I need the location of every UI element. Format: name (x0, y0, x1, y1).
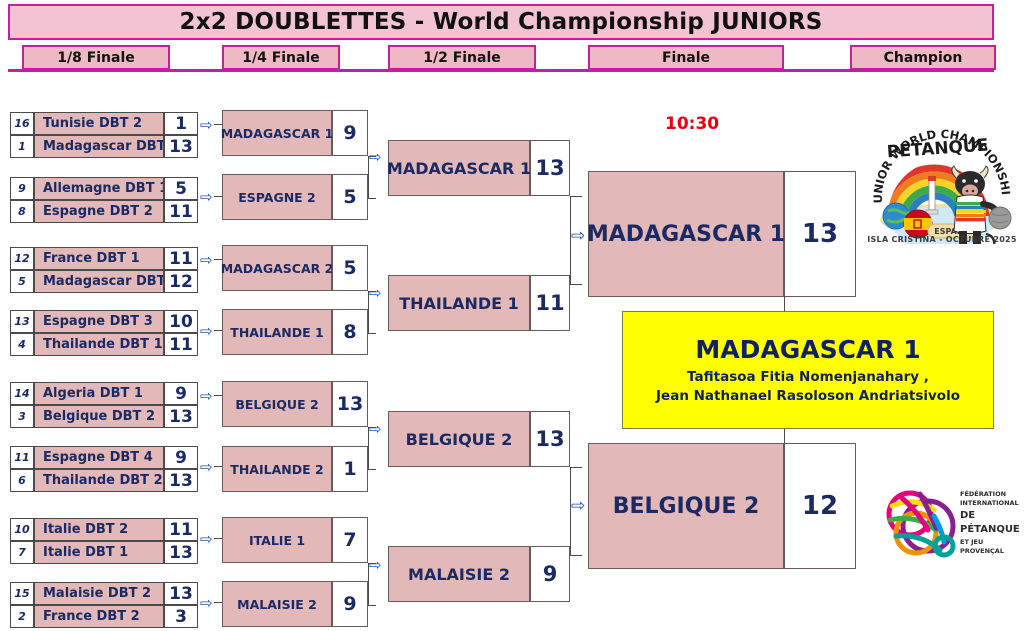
team-score: 5 (164, 177, 198, 200)
team-score: 11 (164, 518, 198, 541)
semifinal-box[interactable]: MADAGASCAR 1 13 (388, 140, 570, 196)
team-score: 8 (332, 309, 368, 355)
team-score: 13 (164, 541, 198, 564)
team-score: 13 (530, 411, 570, 467)
quarterfinal-box[interactable]: MALAISIE 2 9 (222, 581, 368, 627)
team-score: 11 (530, 275, 570, 331)
fipjp-line-3: DE PÉTANQUE (960, 509, 1020, 538)
team-name: Thailande DBT 1 (34, 333, 164, 356)
advance-arrow-icon: ⇨ (200, 596, 213, 611)
connector-line (214, 538, 222, 539)
team-name: Italie DBT 1 (34, 541, 164, 564)
team-name: Malaisie DBT 2 (34, 582, 164, 605)
advance-arrow-icon: ⇨ (571, 498, 585, 515)
connector-line (214, 602, 222, 603)
team-score: 13 (530, 140, 570, 196)
round-tab-label: Champion (884, 50, 963, 66)
advance-arrow-icon: ⇨ (200, 118, 213, 133)
team-name: Madagascar DBT 2 (34, 270, 164, 293)
connector-line (570, 284, 582, 285)
team-name: Madagascar DBT 1 (34, 135, 164, 158)
semifinal-box[interactable]: BELGIQUE 2 13 (388, 411, 570, 467)
team-name: THAILANDE 1 (222, 309, 332, 355)
match-row[interactable]: 9 Allemagne DBT 1 5 (10, 177, 198, 200)
advance-arrow-icon: ⇨ (200, 253, 213, 268)
round-tab-label: Finale (662, 50, 710, 66)
match-row[interactable]: 16 Tunisie DBT 2 1 (10, 112, 198, 135)
seed-number: 10 (10, 518, 34, 541)
connector-line (368, 605, 376, 606)
seed-number: 15 (10, 582, 34, 605)
match-row[interactable]: 7 Italie DBT 1 13 (10, 541, 198, 564)
match-row[interactable]: 3 Belgique DBT 2 13 (10, 405, 198, 428)
match-row[interactable]: 5 Madagascar DBT 2 12 (10, 270, 198, 293)
seed-number: 8 (10, 200, 34, 223)
team-score: 5 (332, 245, 368, 291)
team-name: Belgique DBT 2 (34, 405, 164, 428)
advance-arrow-icon: ⇨ (200, 389, 213, 404)
team-score: 7 (332, 517, 368, 563)
seed-number: 14 (10, 382, 34, 405)
match-row[interactable]: 13 Espagne DBT 3 10 (10, 310, 198, 333)
quarterfinal-box[interactable]: ITALIE 1 7 (222, 517, 368, 563)
advance-arrow-icon: ⇨ (369, 422, 382, 437)
team-score: 11 (164, 200, 198, 223)
team-score: 9 (332, 110, 368, 156)
round-tab-semi[interactable]: 1/2 Finale (388, 45, 536, 70)
quarterfinal-box[interactable]: MADAGASCAR 1 9 (222, 110, 368, 156)
team-score: 5 (332, 174, 368, 220)
junior-world-championship-logo: ESPAÑA (866, 104, 1018, 244)
team-score: 11 (164, 333, 198, 356)
team-name: Tunisie DBT 2 (34, 112, 164, 135)
team-name: ESPAGNE 2 (222, 174, 332, 220)
team-name: MADAGASCAR 1 (588, 171, 784, 297)
quarterfinal-box[interactable]: ESPAGNE 2 5 (222, 174, 368, 220)
round-tab-quarter[interactable]: 1/4 Finale (222, 45, 340, 70)
team-name: France DBT 1 (34, 247, 164, 270)
team-name: MADAGASCAR 1 (222, 110, 332, 156)
team-name: France DBT 2 (34, 605, 164, 628)
connector-line (570, 196, 582, 197)
bracket-stage: 2x2 DOUBLETTES - World Championship JUNI… (0, 0, 1024, 631)
seed-number: 6 (10, 469, 34, 492)
match-row[interactable]: 4 Thailande DBT 1 11 (10, 333, 198, 356)
round-tab-final[interactable]: Finale (588, 45, 784, 70)
logo-caption: ISLA CRISTINA - OCTUBRE 2025 (866, 235, 1018, 244)
team-name: MALAISIE 2 (388, 546, 530, 602)
team-name: THAILANDE 2 (222, 446, 332, 492)
team-name: Espagne DBT 2 (34, 200, 164, 223)
team-name: Algeria DBT 1 (34, 382, 164, 405)
champion-player-2: Jean Nathanael Rasoloson Andriatsivolo (656, 387, 960, 405)
team-name: THAILANDE 1 (388, 275, 530, 331)
match-row[interactable]: 6 Thailande DBT 2 13 (10, 469, 198, 492)
match-row[interactable]: 12 France DBT 1 11 (10, 247, 198, 270)
connector-line (368, 198, 376, 199)
connector-line (214, 330, 222, 331)
seed-number: 16 (10, 112, 34, 135)
advance-arrow-icon: ⇨ (369, 558, 382, 573)
team-score: 10 (164, 310, 198, 333)
team-name: BELGIQUE 2 (222, 381, 332, 427)
team-score: 12 (164, 270, 198, 293)
fipjp-line-4: ET JEU (960, 538, 1020, 547)
seed-number: 1 (10, 135, 34, 158)
seed-number: 12 (10, 247, 34, 270)
champion-team: MADAGASCAR 1 (695, 335, 920, 364)
match-row[interactable]: 1 Madagascar DBT 1 13 (10, 135, 198, 158)
advance-arrow-icon: ⇨ (200, 190, 213, 205)
team-score: 1 (332, 446, 368, 492)
connector-line (368, 469, 376, 470)
team-score: 9 (530, 546, 570, 602)
team-score: 13 (332, 381, 368, 427)
semifinal-box[interactable]: THAILANDE 1 11 (388, 275, 570, 331)
advance-arrow-icon: ⇨ (200, 532, 213, 547)
team-name: Espagne DBT 4 (34, 446, 164, 469)
connector-line (214, 466, 222, 467)
team-score: 13 (784, 171, 856, 297)
fipjp-wordmark: FÉDÉRATION INTERNATIONAL DE PÉTANQUE ET … (960, 490, 1020, 557)
team-name: Allemagne DBT 1 (34, 177, 164, 200)
round-tab-label: 1/8 Finale (57, 50, 135, 66)
fipjp-line-2: INTERNATIONAL (960, 499, 1020, 508)
team-name: BELGIQUE 2 (388, 411, 530, 467)
match-row[interactable]: 8 Espagne DBT 2 11 (10, 200, 198, 223)
match-time: 10:30 (665, 114, 719, 134)
fipjp-line-1: FÉDÉRATION (960, 490, 1020, 499)
team-score: 9 (332, 581, 368, 627)
seed-number: 2 (10, 605, 34, 628)
seed-number: 7 (10, 541, 34, 564)
seed-number: 9 (10, 177, 34, 200)
quarterfinal-box[interactable]: MADAGASCAR 2 5 (222, 245, 368, 291)
match-row[interactable]: 10 Italie DBT 2 11 (10, 518, 198, 541)
team-name: MALAISIE 2 (222, 581, 332, 627)
connector-line (570, 467, 582, 468)
connector-line (214, 395, 222, 396)
advance-arrow-icon: ⇨ (200, 324, 213, 339)
team-score: 9 (164, 382, 198, 405)
team-name: MADAGASCAR 1 (388, 140, 530, 196)
match-row[interactable]: 15 Malaisie DBT 2 13 (10, 582, 198, 605)
final-box[interactable]: BELGIQUE 2 12 (588, 443, 856, 569)
team-name: ITALIE 1 (222, 517, 332, 563)
match-row[interactable]: 2 France DBT 2 3 (10, 605, 198, 628)
round-tab-eighth[interactable]: 1/8 Finale (22, 45, 170, 70)
advance-arrow-icon: ⇨ (369, 150, 382, 165)
seed-number: 3 (10, 405, 34, 428)
team-score: 1 (164, 112, 198, 135)
team-score: 13 (164, 469, 198, 492)
team-name: Espagne DBT 3 (34, 310, 164, 333)
advance-arrow-icon: ⇨ (200, 460, 213, 475)
round-tab-label: 1/4 Finale (242, 50, 320, 66)
connector-line (784, 429, 785, 443)
champion-player-1: Tafitasoa Fitia Nomenjanahary , (687, 368, 929, 386)
team-score: 13 (164, 405, 198, 428)
advance-arrow-icon: ⇨ (571, 228, 585, 245)
quarterfinal-box[interactable]: THAILANDE 2 1 (222, 446, 368, 492)
team-score: 13 (164, 135, 198, 158)
final-box[interactable]: MADAGASCAR 1 13 (588, 171, 856, 297)
fipjp-line-5: PROVENÇAL (960, 547, 1020, 556)
team-name: Thailande DBT 2 (34, 469, 164, 492)
quarterfinal-box[interactable]: THAILANDE 1 8 (222, 309, 368, 355)
seed-number: 4 (10, 333, 34, 356)
connector-line (570, 555, 582, 556)
seed-number: 11 (10, 446, 34, 469)
team-score: 13 (164, 582, 198, 605)
quarterfinal-box[interactable]: BELGIQUE 2 13 (222, 381, 368, 427)
round-tab-label: 1/2 Finale (423, 50, 501, 66)
connector-line (214, 196, 222, 197)
page-title: 2x2 DOUBLETTES - World Championship JUNI… (179, 9, 822, 35)
team-score: 3 (164, 605, 198, 628)
match-row[interactable]: 14 Algeria DBT 1 9 (10, 382, 198, 405)
team-score: 9 (164, 446, 198, 469)
round-tab-champion[interactable]: Champion (850, 45, 996, 70)
team-name: BELGIQUE 2 (588, 443, 784, 569)
connector-line (368, 333, 376, 334)
semifinal-box[interactable]: MALAISIE 2 9 (388, 546, 570, 602)
seed-number: 5 (10, 270, 34, 293)
team-score: 12 (784, 443, 856, 569)
team-name: Italie DBT 2 (34, 518, 164, 541)
seed-number: 13 (10, 310, 34, 333)
match-row[interactable]: 11 Espagne DBT 4 9 (10, 446, 198, 469)
fipjp-logo: FÉDÉRATION INTERNATIONAL DE PÉTANQUE ET … (876, 476, 1018, 572)
team-score: 11 (164, 247, 198, 270)
team-name: MADAGASCAR 2 (222, 245, 332, 291)
advance-arrow-icon: ⇨ (369, 286, 382, 301)
tournament-title-bar: 2x2 DOUBLETTES - World Championship JUNI… (8, 4, 994, 40)
champion-box[interactable]: MADAGASCAR 1 Tafitasoa Fitia Nomenjanaha… (622, 311, 994, 429)
connector-line (784, 297, 785, 311)
